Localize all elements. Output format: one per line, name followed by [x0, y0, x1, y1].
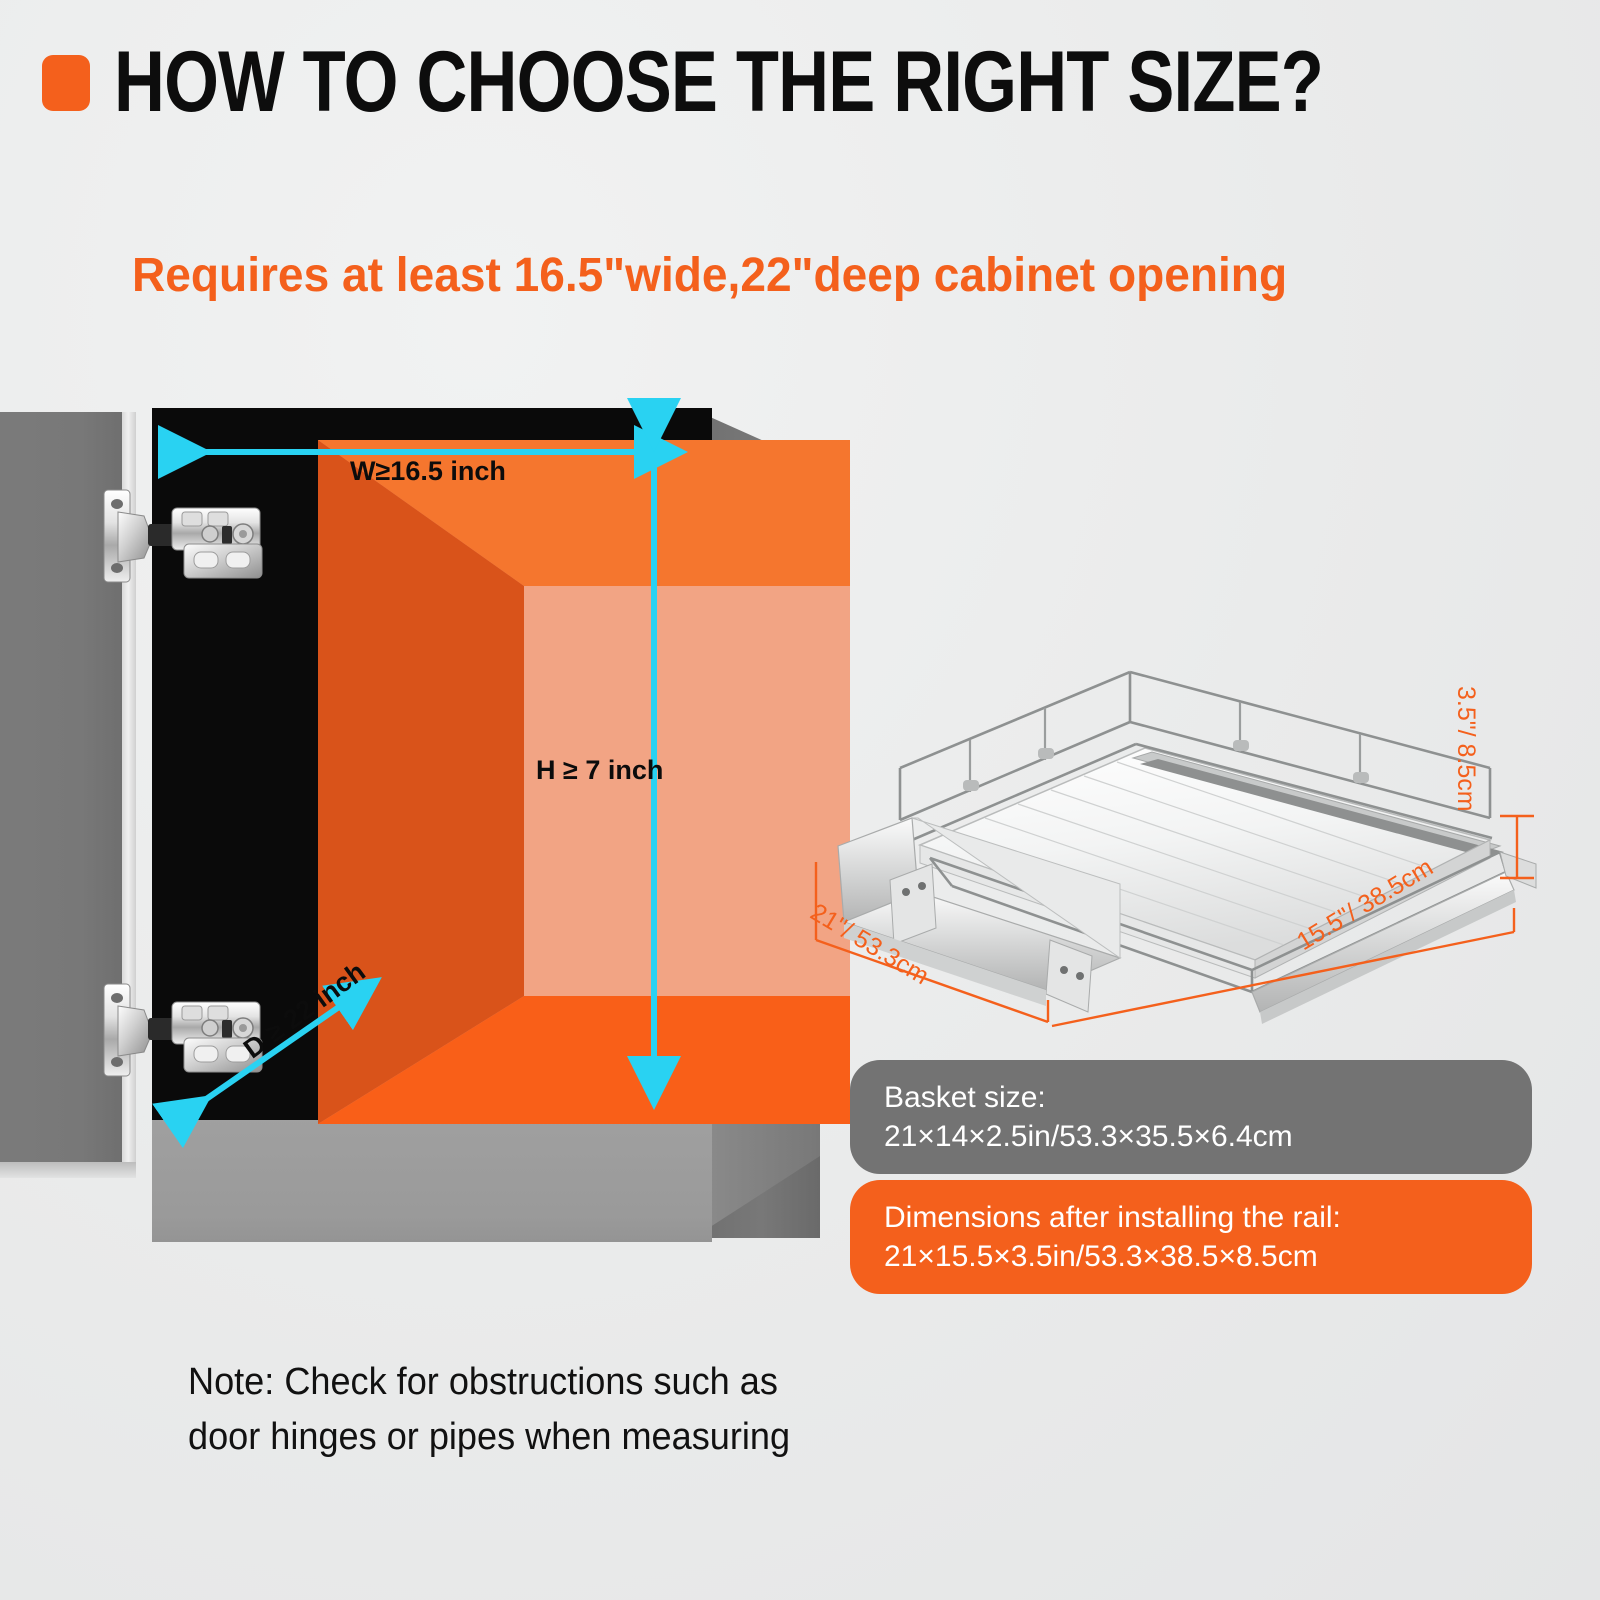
footer-note: Note: Check for obstructions such as doo… [188, 1355, 790, 1465]
installed-dimensions-badge: Dimensions after installing the rail: 21… [850, 1180, 1532, 1294]
cabinet-diagram [0, 390, 820, 1260]
infographic-canvas: HOW TO CHOOSE THE RIGHT SIZE? Requires a… [0, 0, 1600, 1600]
cabinet-door-shadow [0, 1162, 136, 1178]
installed-dimensions-title: Dimensions after installing the rail: [884, 1201, 1341, 1234]
page-title: HOW TO CHOOSE THE RIGHT SIZE? [114, 42, 1323, 124]
orange-square-bullet-icon [42, 55, 90, 111]
cabinet-front-base [152, 1112, 712, 1242]
height-dimension-label: H ≥ 7 inch [536, 755, 663, 786]
product-diagram: 21"/ 53.3cm 15.5"/ 38.5cm 3.5"/ 8.5cm [800, 640, 1560, 1040]
basket-size-value: 21×14×2.5in/53.3×35.5×6.4cm [884, 1117, 1498, 1156]
product-height-label: 3.5"/ 8.5cm [1451, 686, 1480, 812]
header: HOW TO CHOOSE THE RIGHT SIZE? [42, 42, 1588, 124]
cabinet-hinge-icon [98, 482, 288, 590]
width-dimension-label: W≥16.5 inch [350, 456, 506, 487]
subtitle-requirement: Requires at least 16.5"wide,22"deep cabi… [132, 248, 1287, 303]
basket-size-badge: Basket size: 21×14×2.5in/53.3×35.5×6.4cm [850, 1060, 1532, 1174]
installed-dimensions-value: 21×15.5×3.5in/53.3×38.5×8.5cm [884, 1237, 1498, 1276]
basket-size-title: Basket size: [884, 1081, 1046, 1114]
